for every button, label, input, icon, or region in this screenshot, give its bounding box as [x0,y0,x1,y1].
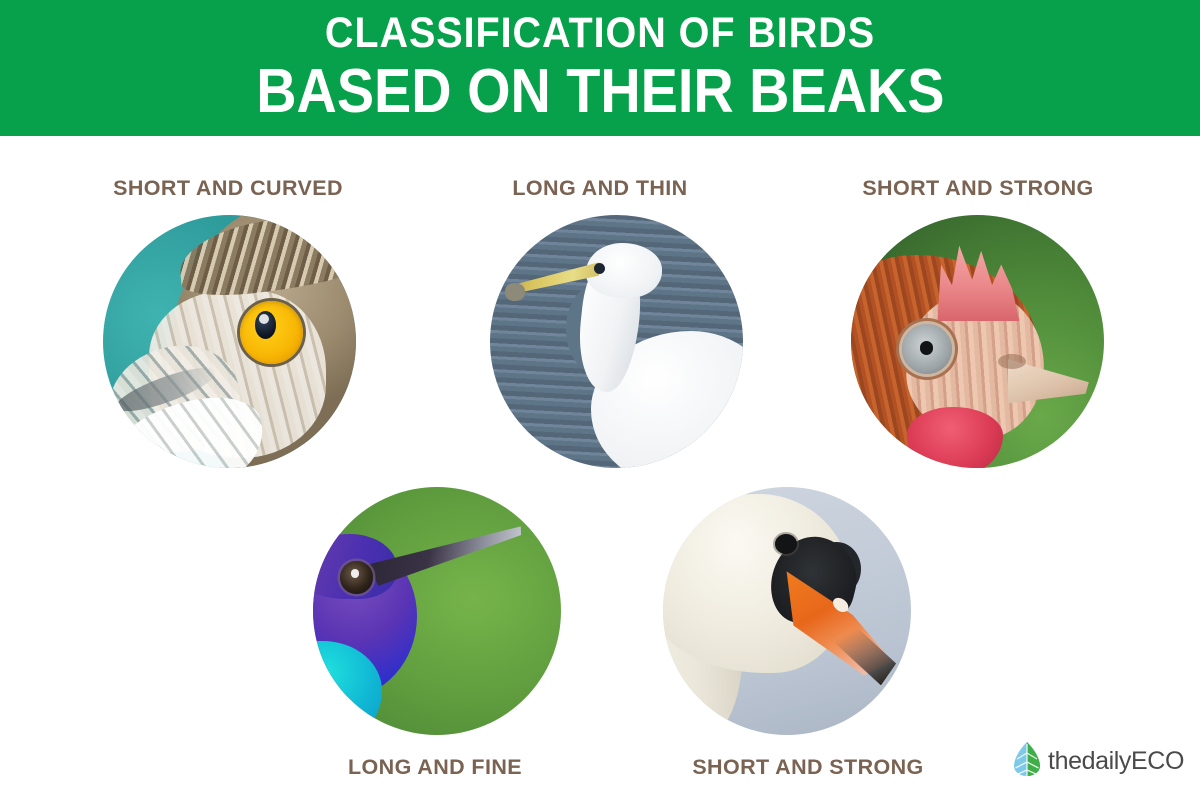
chicken-nostril [998,354,1026,369]
hummingbird-eye [340,561,372,593]
bird-image-egret [490,215,743,468]
owl-eye [240,301,303,364]
hummingbird-illustration [313,487,561,735]
leaf-icon [1012,741,1042,782]
header-banner: CLASSIFICATION OF BIRDS BASED ON THEIR B… [0,0,1200,136]
swan-illustration [663,487,911,735]
bird-image-swan [663,487,911,735]
chicken-illustration [851,215,1104,468]
page-title-line1: CLASSIFICATION OF BIRDS [325,8,875,58]
egret-beak-tip [505,283,525,301]
owl-eye-glint [259,314,269,324]
hummingbird-eye-glint [351,569,359,577]
chicken-wattle [907,407,1003,468]
chicken-pupil [920,341,934,355]
label-long-and-thin: LONG AND THIN [512,176,687,201]
brand-logo[interactable]: thedailyECO [1012,741,1184,782]
bird-image-chicken [851,215,1104,468]
chicken-comb [932,235,1023,321]
label-short-and-curved: SHORT AND CURVED [113,176,343,201]
label-short-and-strong-swan: SHORT AND STRONG [692,755,923,780]
owl-illustration [103,215,356,468]
swan-eye [775,534,797,554]
infographic-poster: CLASSIFICATION OF BIRDS BASED ON THEIR B… [0,0,1200,800]
bird-image-hummingbird [313,487,561,735]
brand-logo-text: thedailyECO [1048,747,1184,776]
page-title-line2: BASED ON THEIR BEAKS [256,58,944,126]
label-short-and-strong-chicken: SHORT AND STRONG [862,176,1093,201]
label-long-and-fine: LONG AND FINE [348,755,522,780]
bird-image-owl [103,215,356,468]
egret-illustration [490,215,743,468]
